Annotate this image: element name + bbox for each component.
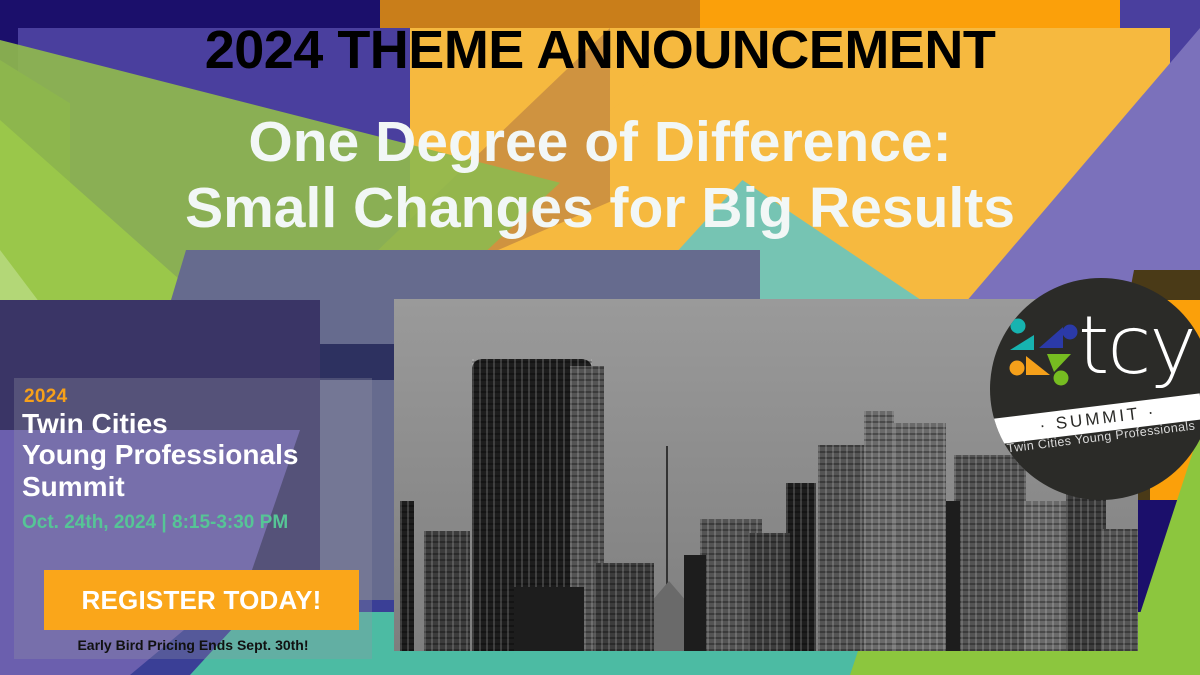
logo-wordmark: tcyp xyxy=(1078,306,1200,386)
theme-line-1: One Degree of Difference: xyxy=(0,110,1200,176)
org-line-3: Summit xyxy=(22,471,362,502)
register-today-button[interactable]: REGISTER TODAY! xyxy=(44,570,359,630)
org-line-1: Twin Cities xyxy=(22,408,362,439)
page-title: 2024 THEME ANNOUNCEMENT xyxy=(0,22,1200,78)
building xyxy=(894,423,946,651)
building xyxy=(684,555,706,651)
four-people-icon xyxy=(1006,314,1084,388)
theme-line-2: Small Changes for Big Results xyxy=(0,176,1200,242)
building xyxy=(594,563,654,651)
building xyxy=(424,531,470,651)
building xyxy=(400,501,414,651)
event-year: 2024 xyxy=(24,386,67,408)
building xyxy=(946,501,960,651)
building xyxy=(514,587,584,651)
org-line-2: Young Professionals xyxy=(22,439,362,470)
building xyxy=(748,533,790,651)
building xyxy=(786,483,816,651)
tcyp-summit-logo-badge: tcyp · SUMMIT · Twin Cities Young Profes… xyxy=(990,278,1200,500)
poster-canvas: 2024 THEME ANNOUNCEMENT One Degree of Di… xyxy=(0,0,1200,675)
theme-title: One Degree of Difference: Small Changes … xyxy=(0,110,1200,241)
event-organization-name: Twin Cities Young Professionals Summit xyxy=(22,408,362,502)
event-date-time: Oct. 24th, 2024 | 8:15-3:30 PM xyxy=(22,512,288,534)
building xyxy=(1102,529,1138,651)
building xyxy=(818,445,864,651)
building xyxy=(864,411,894,651)
building xyxy=(1024,501,1070,651)
early-bird-notice: Early Bird Pricing Ends Sept. 30th! xyxy=(14,637,372,653)
